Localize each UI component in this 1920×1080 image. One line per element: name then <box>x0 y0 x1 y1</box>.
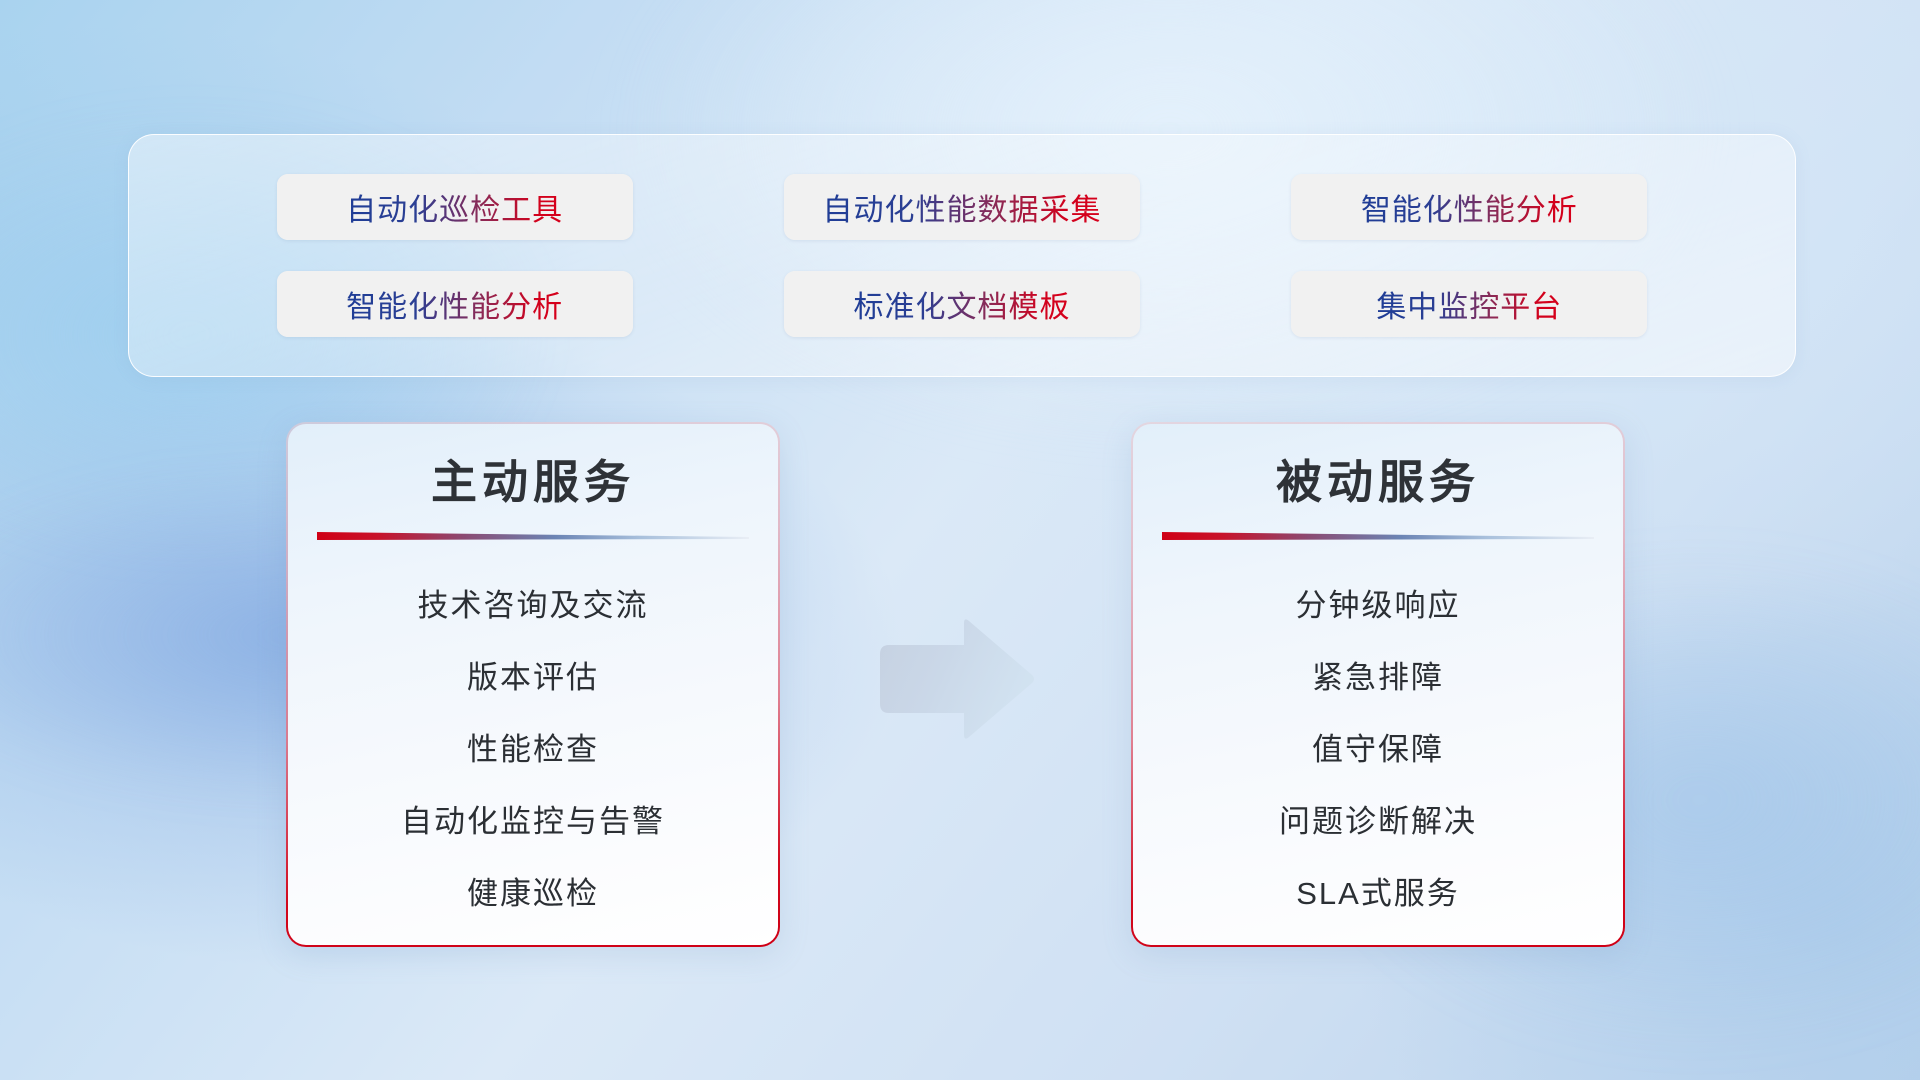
pill-surface: 自动化性能数据采集 <box>784 174 1140 240</box>
card-divider-accent <box>317 528 749 544</box>
pill-surface: 标准化文档模板 <box>784 271 1140 337</box>
capability-pill-automated-inspection-tool[interactable]: 自动化巡检工具 <box>277 174 633 240</box>
pill-surface: 自动化巡检工具 <box>277 174 633 240</box>
capability-pill-label: 自动化巡检工具 <box>346 185 563 229</box>
capability-pill-standardized-document-template[interactable]: 标准化文档模板 <box>784 271 1140 337</box>
capability-pill-automated-performance-data-collection[interactable]: 自动化性能数据采集 <box>784 174 1140 240</box>
capability-pill-intelligent-performance-analysis-a[interactable]: 智能化性能分析 <box>277 271 633 337</box>
capability-pill-centralized-monitoring-platform[interactable]: 集中监控平台 <box>1291 271 1647 337</box>
service-item-list: 分钟级响应 紧急排障 值守保障 问题诊断解决 SLA式服务 <box>1133 570 1623 930</box>
capability-pill-label: 集中监控平台 <box>1376 282 1562 326</box>
service-list-item: 性能检查 <box>467 714 599 786</box>
service-list-item: 问题诊断解决 <box>1279 786 1477 858</box>
service-card-proactive: 主动服务 技术咨询及交流 版本评估 性能检查 <box>286 422 780 947</box>
capability-pill-label: 标准化文档模板 <box>853 282 1070 326</box>
pill-surface: 智能化性能分析 <box>277 271 633 337</box>
service-list-item: SLA式服务 <box>1296 858 1460 930</box>
service-item-list: 技术咨询及交流 版本评估 性能检查 自动化监控与告警 健康巡检 <box>288 570 778 930</box>
arrow-right-icon <box>870 618 1036 740</box>
service-list-item: 自动化监控与告警 <box>401 786 665 858</box>
card-title: 主动服务 <box>431 454 635 512</box>
card-divider-accent <box>1162 528 1594 544</box>
capability-column-3: 智能化性能分析 集中监控平台 <box>1291 174 1647 337</box>
pill-surface: 智能化性能分析 <box>1291 174 1647 240</box>
service-card-reactive: 被动服务 分钟级响应 紧急排障 值守保障 <box>1131 422 1625 947</box>
service-list-item: 分钟级响应 <box>1296 570 1461 642</box>
capability-pill-label: 自动化性能数据采集 <box>822 185 1101 229</box>
service-list-item: 技术咨询及交流 <box>418 570 649 642</box>
service-list-item: 版本评估 <box>467 642 599 714</box>
capability-pill-label: 智能化性能分析 <box>1361 185 1578 229</box>
capability-panel: 自动化巡检工具 智能化性能分析 自动化性能数据采集 标准化文档模板 智能化性能分… <box>128 134 1796 377</box>
service-list-item: 健康巡检 <box>467 858 599 930</box>
capability-column-1: 自动化巡检工具 智能化性能分析 <box>277 174 633 337</box>
service-card-body: 主动服务 技术咨询及交流 版本评估 性能检查 <box>288 424 778 945</box>
capability-column-2: 自动化性能数据采集 标准化文档模板 <box>784 174 1140 337</box>
service-card-body: 被动服务 分钟级响应 紧急排障 值守保障 <box>1133 424 1623 945</box>
capability-pill-intelligent-performance-analysis-b[interactable]: 智能化性能分析 <box>1291 174 1647 240</box>
pill-surface: 集中监控平台 <box>1291 271 1647 337</box>
service-list-item: 值守保障 <box>1312 714 1444 786</box>
service-list-item: 紧急排障 <box>1312 642 1444 714</box>
capability-pill-label: 智能化性能分析 <box>346 282 563 326</box>
card-title: 被动服务 <box>1276 454 1480 512</box>
